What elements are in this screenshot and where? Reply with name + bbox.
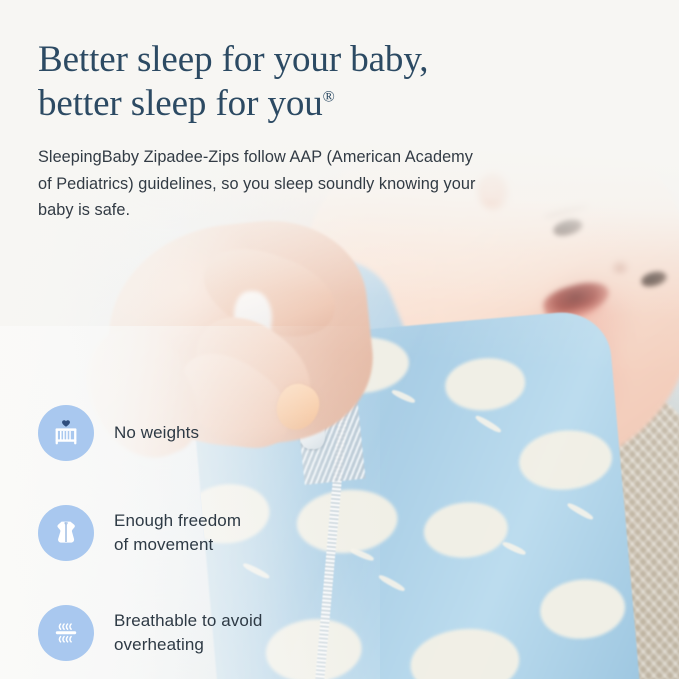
- headline-line-1: Better sleep for your baby,: [38, 39, 428, 80]
- feature-item-freedom-of-movement: Enough freedom of movement: [38, 483, 338, 583]
- feature-list: No weights Enough freedom of movement: [38, 383, 338, 679]
- feature-item-breathable: Breathable to avoid overheating: [38, 583, 338, 679]
- feature-label: Breathable to avoid overheating: [114, 609, 262, 657]
- feature-label-line-1: Enough freedom: [114, 511, 241, 530]
- product-feature-panel: Better sleep for your baby, better sleep…: [0, 0, 679, 679]
- panel-content: Better sleep for your baby, better sleep…: [0, 0, 679, 679]
- headline-line-2: better sleep for you: [38, 83, 323, 124]
- feature-label: No weights: [114, 421, 199, 445]
- airflow-breathable-icon: [38, 605, 94, 661]
- feature-label-line-2: of movement: [114, 535, 213, 554]
- feature-label: Enough freedom of movement: [114, 509, 241, 557]
- registered-trademark-icon: ®: [323, 88, 335, 105]
- page-title: Better sleep for your baby, better sleep…: [38, 38, 508, 125]
- subheading-copy: SleepingBaby Zipadee-Zips follow AAP (Am…: [38, 144, 490, 223]
- sleep-sack-zipper-icon: [38, 505, 94, 561]
- feature-label-line-2: overheating: [114, 635, 204, 654]
- feature-label-line-1: Breathable to avoid: [114, 611, 262, 630]
- crib-heart-icon: [38, 405, 94, 461]
- feature-label-line-1: No weights: [114, 423, 199, 442]
- feature-item-no-weights: No weights: [38, 383, 338, 483]
